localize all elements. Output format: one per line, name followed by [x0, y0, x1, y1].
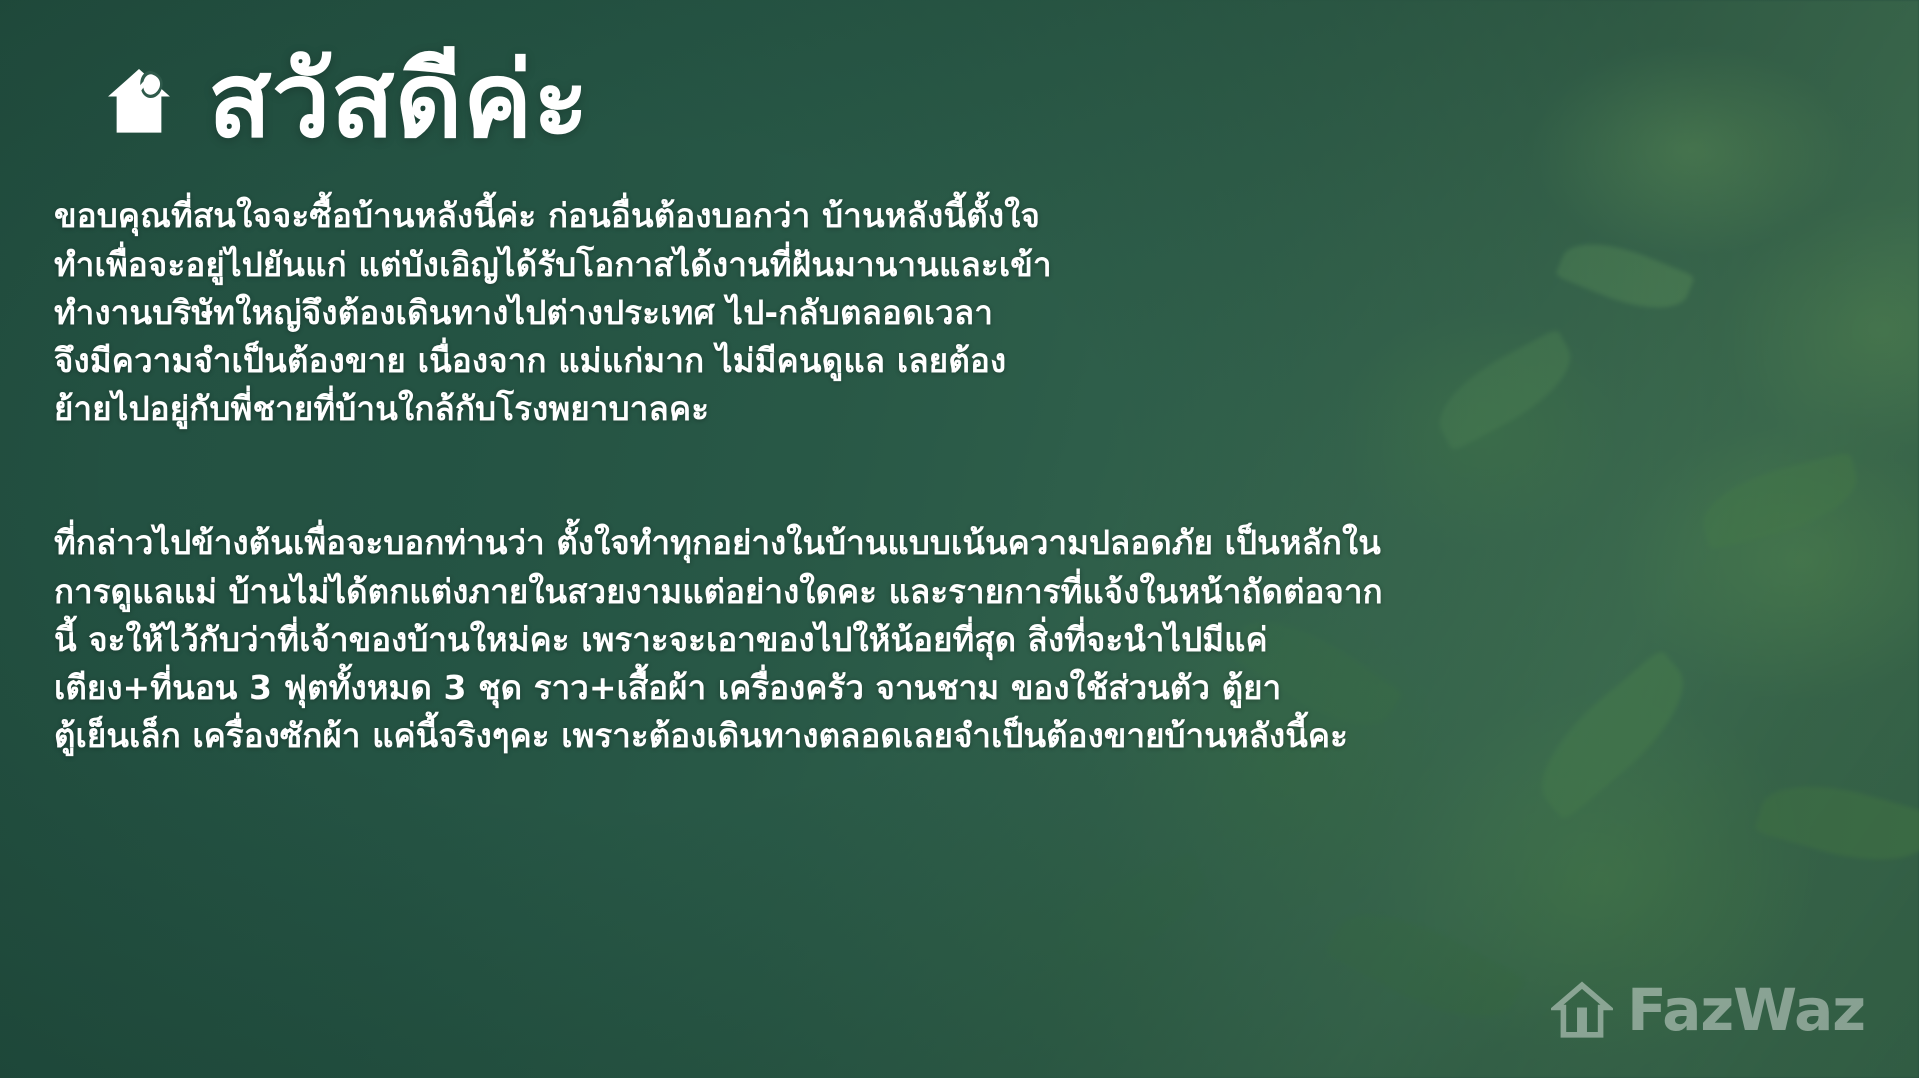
paragraph-1-line: ย้ายไปอยู่กับพี่ชายที่บ้านใกล้กับโรงพยาบ… — [54, 385, 1754, 433]
paragraph-1-line: จึงมีความจำเป็นต้องขาย เนื่องจาก แม่แก่ม… — [54, 337, 1754, 385]
paragraph-2: ที่กล่าวไปข้างต้นเพื่อจะบอกท่านว่า ตั้งใ… — [54, 519, 1754, 760]
slide-content: สวัสดีค่ะ ขอบคุณที่สนใจจะซื้อบ้านหลังนี้… — [0, 0, 1919, 1078]
paragraph-2-line: ตู้เย็นเล็ก เครื่องซักผ้า แค่นี้จริงๆคะ … — [54, 712, 1754, 760]
house-leaf-logo-icon — [96, 57, 182, 143]
fazwaz-house-mark-icon — [1551, 979, 1613, 1041]
message-body: ขอบคุณที่สนใจจะซื้อบ้านหลังนี้ค่ะ ก่อนอื… — [54, 192, 1754, 760]
paragraph-2-line: ที่กล่าวไปข้างต้นเพื่อจะบอกท่านว่า ตั้งใ… — [54, 519, 1754, 567]
fazwaz-watermark-text: FazWaz — [1627, 976, 1865, 1044]
paragraph-1-line: ขอบคุณที่สนใจจะซื้อบ้านหลังนี้ค่ะ ก่อนอื… — [54, 192, 1754, 240]
slide-root: สวัสดีค่ะ ขอบคุณที่สนใจจะซื้อบ้านหลังนี้… — [0, 0, 1919, 1078]
paragraph-2-line: การดูแลแม่ บ้านไม่ได้ตกแต่งภายในสวยงามแต… — [54, 568, 1754, 616]
paragraph-1-line: ทำงานบริษัทใหญ่จึงต้องเดินทางไปต่างประเท… — [54, 289, 1754, 337]
fazwaz-watermark: FazWaz — [1551, 976, 1865, 1044]
title-row: สวัสดีค่ะ — [96, 42, 1867, 158]
paragraph-1: ขอบคุณที่สนใจจะซื้อบ้านหลังนี้ค่ะ ก่อนอื… — [54, 192, 1754, 433]
paragraph-1-line: ทำเพื่อจะอยู่ไปยันแก่ แต่บังเอิญได้รับโอ… — [54, 241, 1754, 289]
paragraph-2-line: นี้ จะให้ไว้กับว่าที่เจ้าของบ้านใหม่คะ เ… — [54, 616, 1754, 664]
page-title: สวัสดีค่ะ — [208, 42, 589, 158]
paragraph-spacer — [54, 433, 1754, 519]
paragraph-2-line: เตียง+ที่นอน 3 ฟุตทั้งหมด 3 ชุด ราว+เสื้… — [54, 664, 1754, 712]
